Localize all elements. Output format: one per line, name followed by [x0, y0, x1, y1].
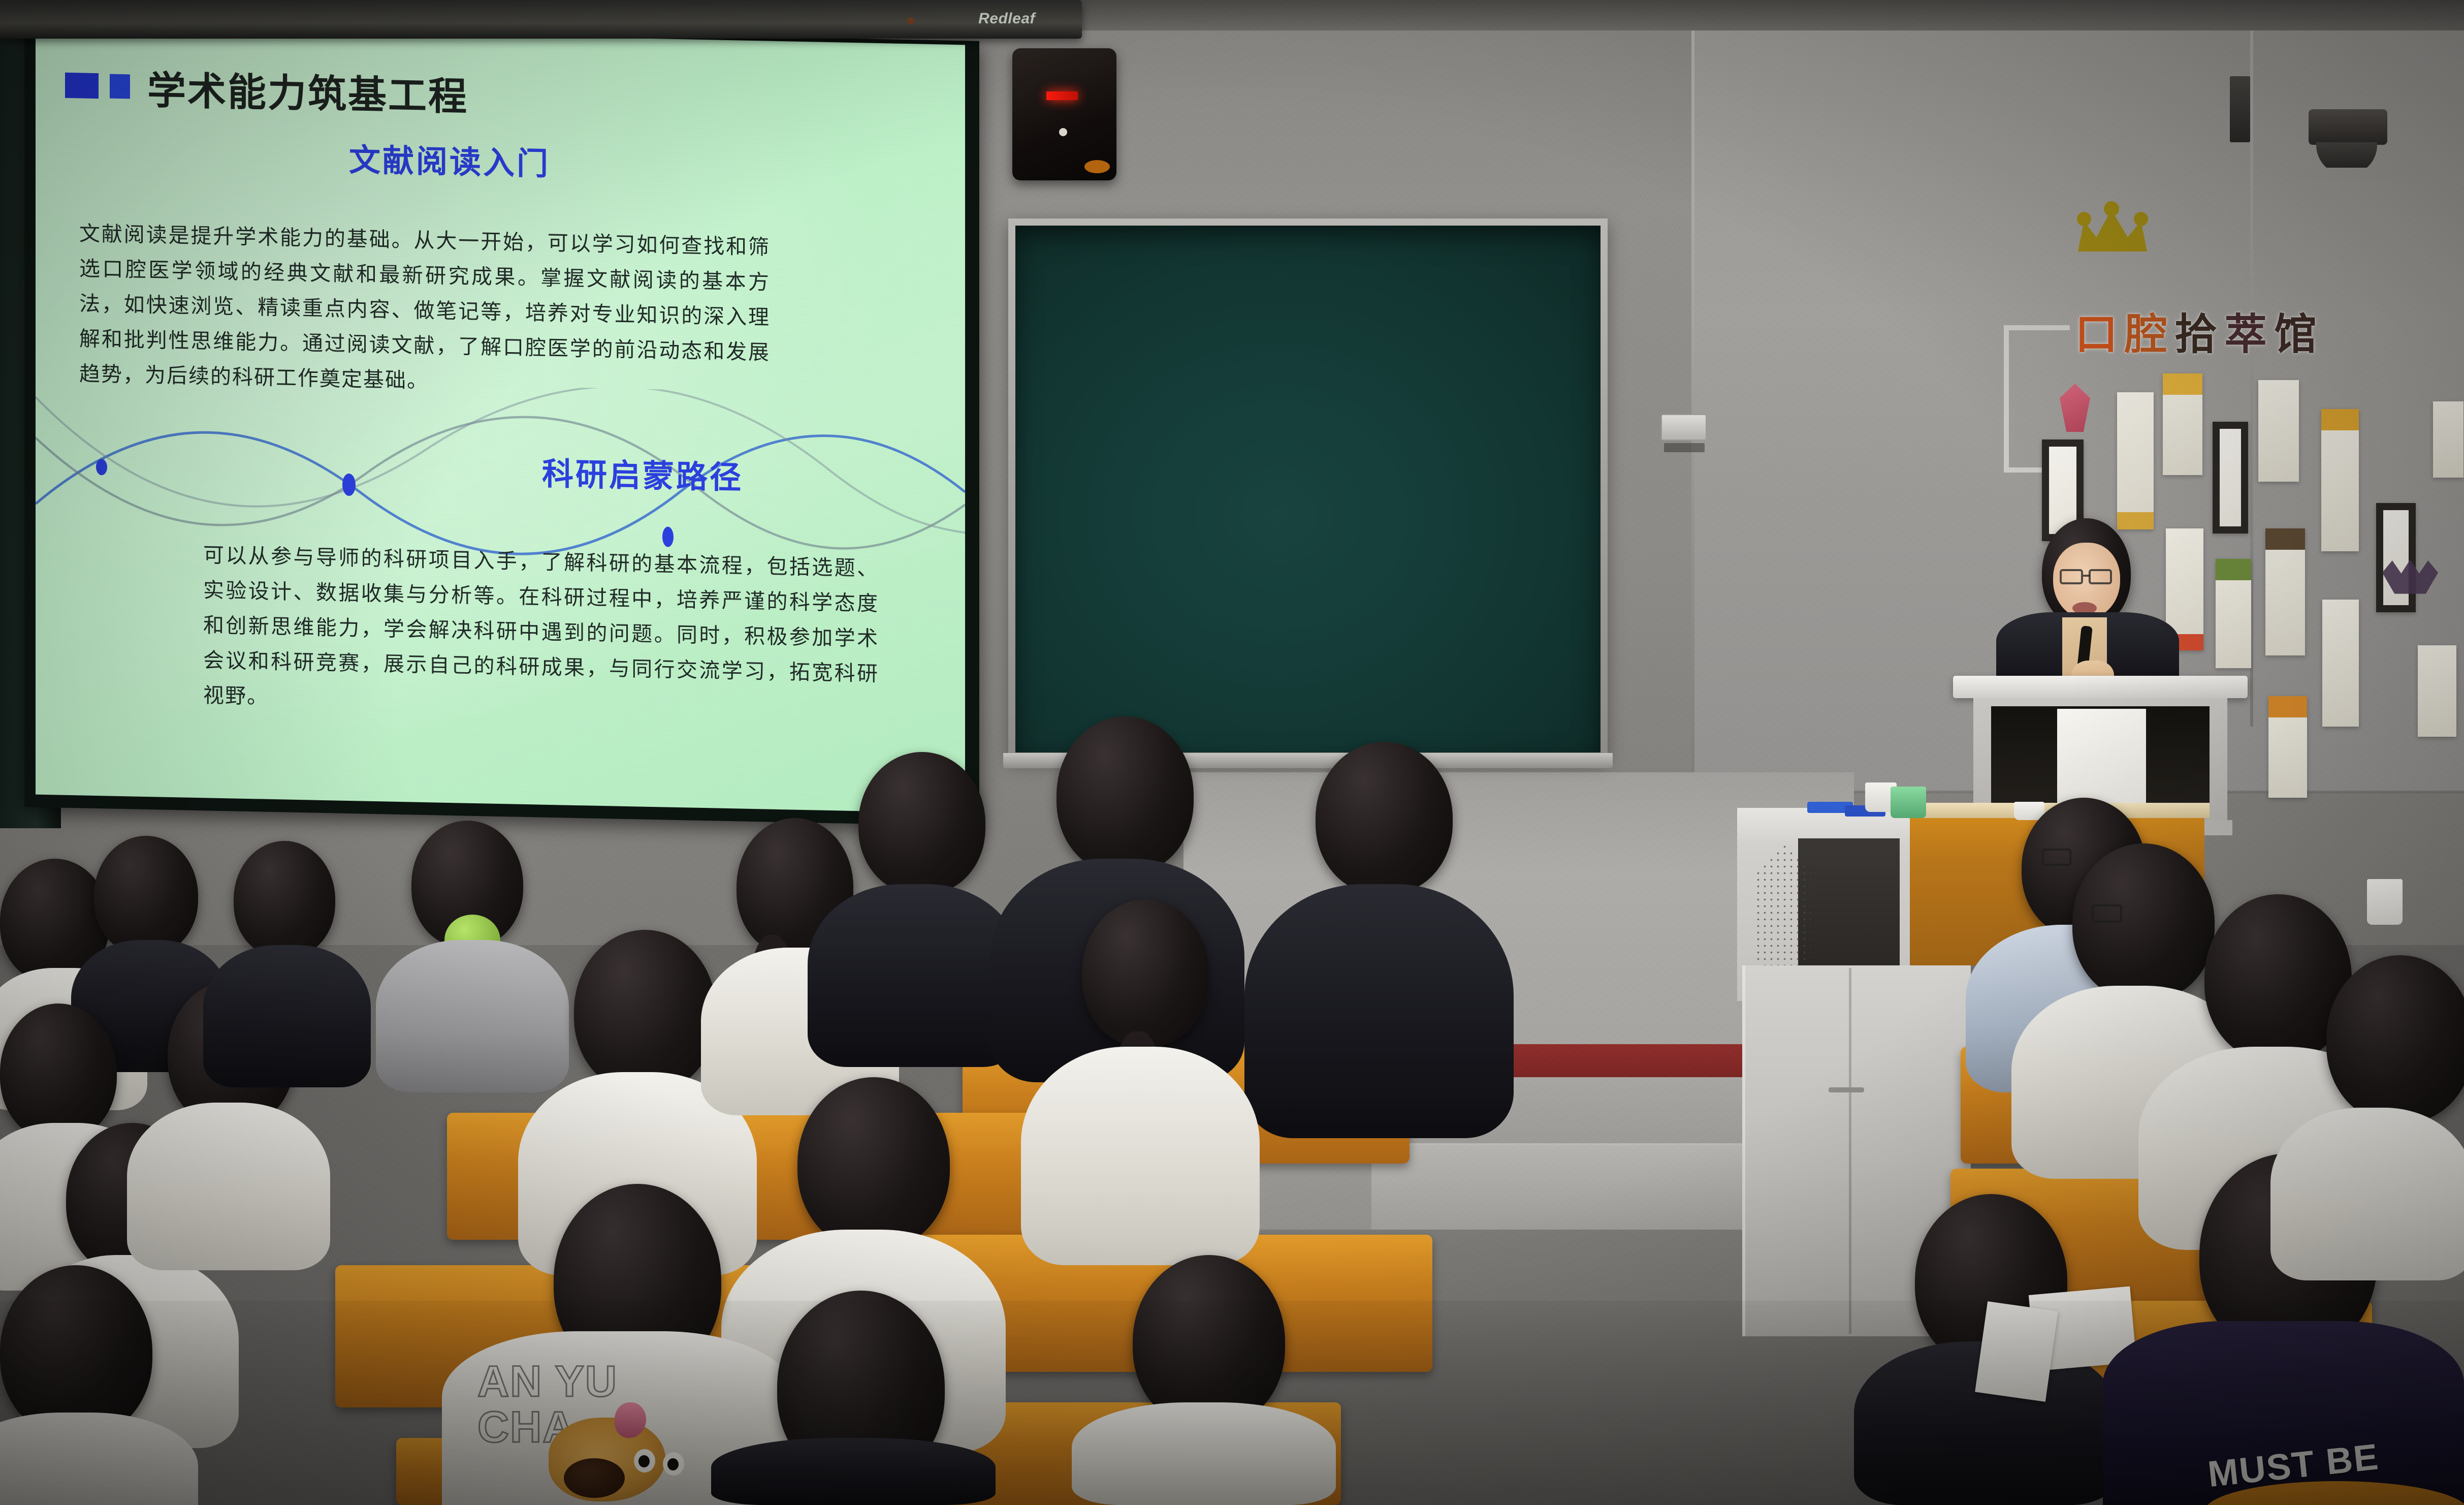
bullet-square-small-icon [110, 74, 130, 99]
card-accent [2268, 696, 2307, 717]
cabinet-handle[interactable] [1829, 1087, 1864, 1092]
glasses-bridge [2083, 575, 2090, 577]
student-head [234, 841, 335, 958]
wall-card [2216, 559, 2251, 668]
projector-screen-housing: Redleaf [0, 0, 1082, 39]
student-head [797, 1077, 950, 1250]
card-accent [2265, 528, 2305, 550]
wall-card [2321, 409, 2359, 551]
student-body [1021, 1047, 1260, 1265]
crown-decoration-icon [2075, 201, 2151, 257]
wall-card [2322, 600, 2359, 727]
student-head [0, 1265, 152, 1438]
camera-mount-arm [2309, 109, 2387, 145]
hoodie-text-line-1: AN YU [477, 1362, 618, 1402]
student-head [2326, 955, 2464, 1123]
slide-title-row: 学术能力筑基工程 [65, 57, 468, 121]
glasses-icon [2060, 569, 2083, 584]
student-body [127, 1103, 330, 1270]
wall-card [2376, 503, 2416, 612]
section-two-body: 可以从参与导师的科研项目入手，了解科研的基本流程，包括选题、实验设计、数据收集与… [203, 538, 879, 726]
card-accent [2321, 409, 2359, 430]
wall-card [2117, 392, 2154, 529]
wall-switch-panel[interactable] [1661, 414, 1707, 441]
student-body [808, 884, 1021, 1067]
student-head [858, 752, 985, 894]
section-one-body: 文献阅读是提升学术能力的基础。从大一开始，可以学习如何查找和筛选口腔医学领域的经… [79, 216, 770, 405]
glasses-icon [2089, 569, 2112, 584]
presentation-slide[interactable]: 学术能力筑基工程 文献阅读入门 文献阅读是提升学术能力的基础。从大一开始，可以学… [36, 26, 965, 813]
dog-muzzle-icon [564, 1458, 625, 1498]
slide-title: 学术能力筑基工程 [147, 59, 468, 121]
wall-conduit-box [2230, 76, 2250, 142]
wall-card [2433, 401, 2463, 478]
chalkboard[interactable] [1008, 218, 1608, 760]
student-head [1082, 899, 1209, 1047]
speaker-amber-light-icon [1084, 160, 1110, 173]
dog-eye-icon [634, 1449, 655, 1472]
gallery-char-3: 萃 [2224, 313, 2267, 356]
card-accent [2216, 559, 2251, 580]
glasses-icon [2092, 904, 2122, 923]
lecture-hall-scene: 学术能力筑基工程 文献阅读入门 文献阅读是提升学术能力的基础。从大一开始，可以学… [0, 0, 2464, 1505]
wall-card [2163, 373, 2202, 475]
student-head [1057, 716, 1194, 874]
student-body [376, 940, 569, 1092]
gallery-char-1: 腔 [2125, 313, 2167, 356]
wall-card [2268, 696, 2307, 798]
student-head [0, 1004, 117, 1141]
projector-brand-label: Redleaf [978, 10, 1035, 27]
gallery-title: 口 腔 拾 萃 馆 [2075, 285, 2390, 356]
cabinet-door-seam [1849, 968, 1851, 1334]
podium-top [1953, 676, 2248, 698]
gallery-char-4: 馆 [2274, 313, 2317, 356]
paper-cup[interactable] [2367, 879, 2403, 925]
wall-card [2213, 422, 2248, 534]
bullet-square-large-icon [65, 73, 99, 99]
wall-card [2265, 528, 2305, 655]
speaker-sensor-icon [1059, 128, 1067, 136]
handout-paper[interactable] [1975, 1301, 2058, 1402]
console-speaker-grille-icon [1755, 843, 1811, 986]
student-body [711, 1438, 996, 1505]
gallery-char-0: 口 [2075, 313, 2118, 356]
student-head [94, 836, 198, 955]
student-body [2270, 1108, 2464, 1280]
glasses-icon [2042, 849, 2071, 866]
student-head [574, 930, 716, 1092]
student-body [1244, 884, 1514, 1138]
student-head [1316, 742, 1453, 894]
student-body [1072, 1402, 1336, 1505]
green-cup[interactable] [1891, 787, 1926, 818]
dog-eye-icon [663, 1452, 684, 1476]
camera-shelf [2296, 168, 2397, 179]
wall-switch-label [1664, 443, 1705, 452]
wall-card [2418, 645, 2456, 737]
brand-dot-icon [907, 17, 914, 24]
card-accent [2117, 512, 2154, 529]
speaker-power-led-icon [1046, 91, 1078, 100]
student-head [1133, 1255, 1285, 1428]
student-body [203, 945, 371, 1087]
gallery-char-2: 拾 [2174, 313, 2217, 356]
section-one-heading: 文献阅读入门 [36, 127, 914, 192]
card-accent [2163, 373, 2202, 395]
wall-card [2258, 380, 2299, 482]
chalkboard-surface [1015, 226, 1601, 752]
